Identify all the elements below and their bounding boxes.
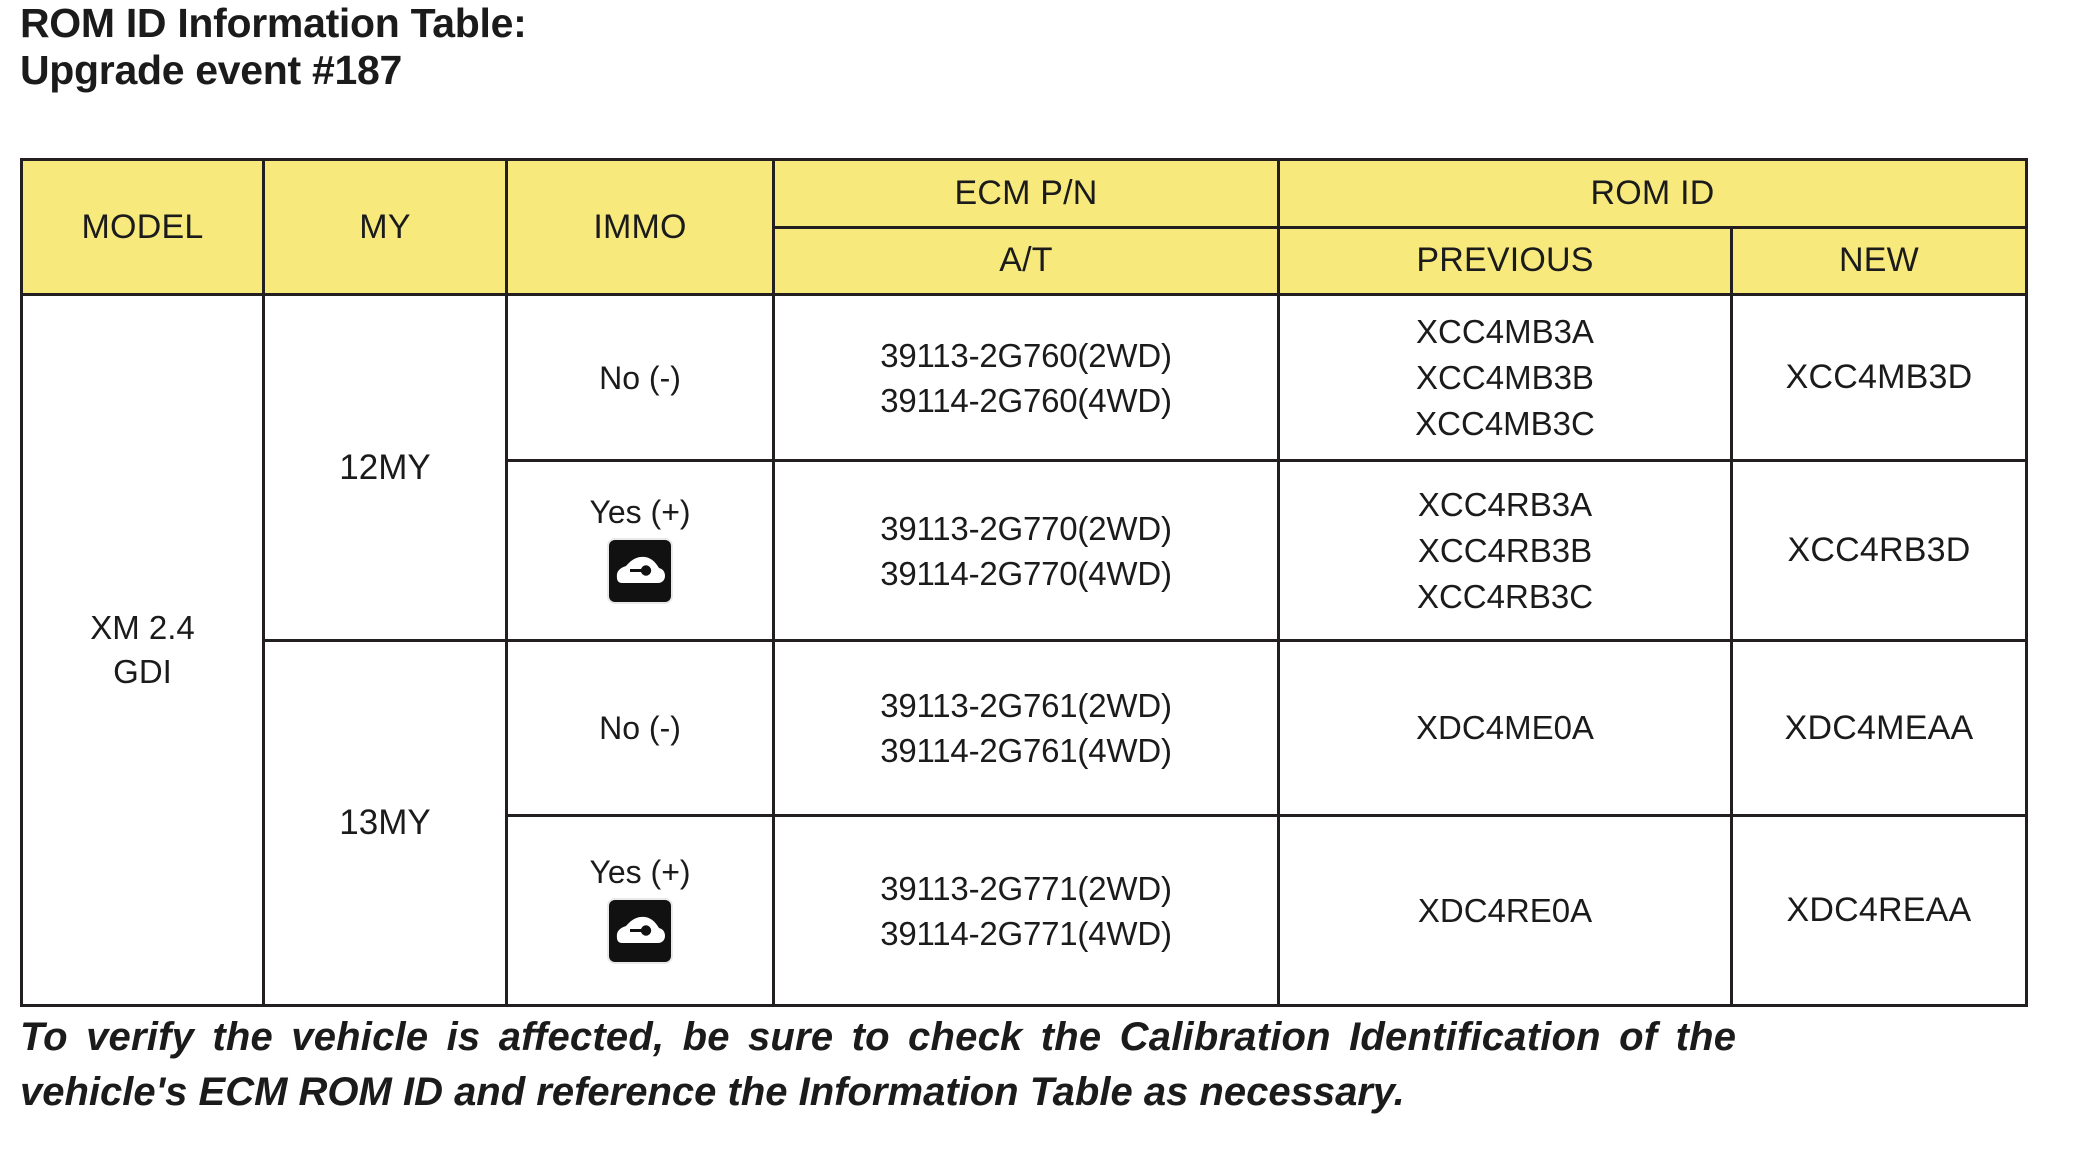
cell-immo: Yes (+) (507, 461, 774, 641)
cell-rom-id-previous: XCC4MB3A XCC4MB3B XCC4MB3C (1279, 295, 1732, 461)
previous-rom-id: XCC4MB3B (1416, 359, 1594, 396)
cell-ecm-part-number: 39113-2G770(2WD) 39114-2G770(4WD) (774, 461, 1279, 641)
page-title-line-1: ROM ID Information Table: (20, 0, 1620, 47)
ecm-pn-4wd: 39114-2G761(4WD) (880, 732, 1172, 769)
ecm-pn-2wd: 39113-2G771(2WD) (880, 870, 1172, 907)
cell-immo: Yes (+) (507, 816, 774, 1006)
rom-id-table-container: MODEL MY IMMO ECM P/N ROM ID A/T PREVIOU… (20, 158, 2025, 1007)
table-row: 13MY No (-) 39113-2G761(2WD) 39114-2G761… (22, 641, 2027, 816)
cell-rom-id-new: XDC4MEAA (1732, 641, 2027, 816)
cell-ecm-part-number: 39113-2G760(2WD) 39114-2G760(4WD) (774, 295, 1279, 461)
previous-rom-id: XCC4RB3C (1417, 578, 1593, 615)
verification-note-line-2: vehicle's ECM ROM ID and reference the I… (20, 1065, 2060, 1120)
column-header-at: A/T (774, 227, 1279, 295)
previous-rom-id: XCC4MB3A (1416, 313, 1594, 350)
page-title: ROM ID Information Table: Upgrade event … (20, 0, 1620, 94)
ecm-pn-2wd: 39113-2G761(2WD) (880, 687, 1172, 724)
cell-immo: No (-) (507, 641, 774, 816)
cell-rom-id-previous: XDC4ME0A (1279, 641, 1732, 816)
ecm-pn-4wd: 39114-2G770(4WD) (880, 555, 1172, 592)
cell-ecm-part-number: 39113-2G771(2WD) 39114-2G771(4WD) (774, 816, 1279, 1006)
cell-rom-id-new: XCC4MB3D (1732, 295, 2027, 461)
column-header-model: MODEL (22, 160, 264, 295)
cell-immo: No (-) (507, 295, 774, 461)
ecm-pn-4wd: 39114-2G771(4WD) (880, 915, 1172, 952)
immobilizer-car-key-icon (609, 900, 671, 962)
previous-rom-id: XDC4RE0A (1418, 892, 1592, 929)
rom-id-table: MODEL MY IMMO ECM P/N ROM ID A/T PREVIOU… (20, 158, 2028, 1007)
cell-model: XM 2.4 GDI (22, 295, 264, 1006)
cell-model-year-13my: 13MY (264, 641, 507, 1006)
column-header-previous: PREVIOUS (1279, 227, 1732, 295)
immobilizer-car-key-icon (609, 540, 671, 602)
cell-rom-id-previous: XCC4RB3A XCC4RB3B XCC4RB3C (1279, 461, 1732, 641)
column-header-ecm-pn-group: ECM P/N (774, 160, 1279, 228)
column-header-new: NEW (1732, 227, 2027, 295)
table-row: XM 2.4 GDI 12MY No (-) 39113-2G760(2WD) … (22, 295, 2027, 461)
page-title-line-2: Upgrade event #187 (20, 47, 1620, 94)
previous-rom-id: XCC4RB3B (1418, 532, 1592, 569)
rom-id-information-page: ROM ID Information Table: Upgrade event … (0, 0, 2073, 1161)
immo-label: Yes (+) (508, 852, 772, 892)
cell-rom-id-new: XDC4REAA (1732, 816, 2027, 1006)
cell-ecm-part-number: 39113-2G761(2WD) 39114-2G761(4WD) (774, 641, 1279, 816)
cell-rom-id-new: XCC4RB3D (1732, 461, 2027, 641)
ecm-pn-4wd: 39114-2G760(4WD) (880, 382, 1172, 419)
header-row-top: MODEL MY IMMO ECM P/N ROM ID (22, 160, 2027, 228)
previous-rom-id: XCC4MB3C (1415, 405, 1595, 442)
column-header-my: MY (264, 160, 507, 295)
cell-rom-id-previous: XDC4RE0A (1279, 816, 1732, 1006)
verification-note-line-1: To verify the vehicle is affected, be su… (20, 1010, 2060, 1065)
verification-note: To verify the vehicle is affected, be su… (20, 1010, 2060, 1120)
column-header-rom-id-group: ROM ID (1279, 160, 2027, 228)
ecm-pn-2wd: 39113-2G760(2WD) (880, 337, 1172, 374)
table-body: XM 2.4 GDI 12MY No (-) 39113-2G760(2WD) … (22, 295, 2027, 1006)
previous-rom-id: XDC4ME0A (1416, 709, 1594, 746)
table-head: MODEL MY IMMO ECM P/N ROM ID A/T PREVIOU… (22, 160, 2027, 295)
cell-model-year-12my: 12MY (264, 295, 507, 641)
model-name-line-2: GDI (113, 653, 172, 690)
model-name-line-1: XM 2.4 (90, 609, 195, 646)
immo-label: No (-) (508, 358, 772, 398)
ecm-pn-2wd: 39113-2G770(2WD) (880, 510, 1172, 547)
column-header-immo: IMMO (507, 160, 774, 295)
immo-label: No (-) (508, 708, 772, 748)
previous-rom-id: XCC4RB3A (1418, 486, 1592, 523)
immo-label: Yes (+) (508, 492, 772, 532)
